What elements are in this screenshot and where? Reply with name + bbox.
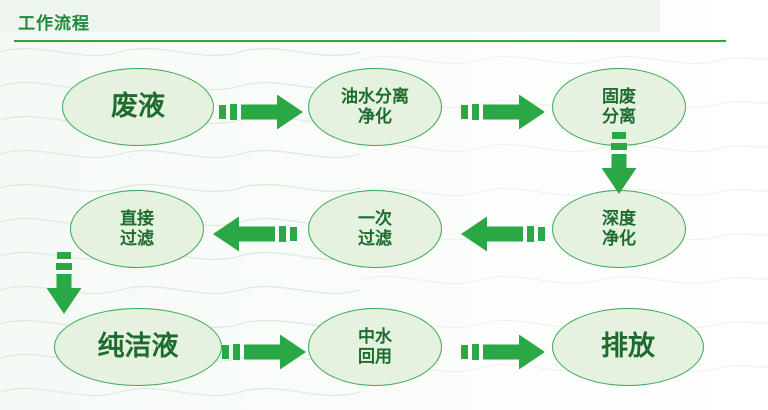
node-fei-ye[interactable]: 废液 <box>62 68 214 146</box>
node-label: 排放 <box>601 331 655 363</box>
arrow-right-icon <box>461 95 545 129</box>
node-label: 直接 过滤 <box>120 209 154 249</box>
node-label: 深度 净化 <box>602 209 636 249</box>
node-label: 固废 分离 <box>602 87 636 127</box>
slide-canvas: 工作流程 废液 油水分离 净化 固废 分离 直接 过滤 一次 过滤 深度 净化 … <box>0 0 768 410</box>
arrow-right-icon <box>222 335 306 369</box>
title-band <box>0 0 660 32</box>
node-pure-liquid[interactable]: 纯洁液 <box>54 308 222 386</box>
node-discharge[interactable]: 排放 <box>552 308 704 386</box>
arrow-right-icon <box>219 95 303 129</box>
arrow-left-icon <box>213 217 297 251</box>
arrow-down-icon <box>602 132 636 194</box>
arrow-left-icon <box>461 217 545 251</box>
node-label: 中水 回用 <box>358 327 392 367</box>
page-title: 工作流程 <box>18 9 90 34</box>
node-oil-water-sep[interactable]: 油水分离 净化 <box>308 68 442 146</box>
title-divider <box>14 40 726 42</box>
node-label: 废液 <box>111 91 165 123</box>
node-direct-filter[interactable]: 直接 过滤 <box>70 190 204 268</box>
arrow-right-icon <box>461 335 545 369</box>
arrow-down-icon <box>47 252 81 314</box>
node-label: 一次 过滤 <box>358 209 392 249</box>
node-label: 纯洁液 <box>98 331 179 363</box>
node-deep-purify[interactable]: 深度 净化 <box>552 190 686 268</box>
node-reclaimed-water[interactable]: 中水 回用 <box>308 308 442 386</box>
node-label: 油水分离 净化 <box>341 87 409 127</box>
node-primary-filter[interactable]: 一次 过滤 <box>308 190 442 268</box>
